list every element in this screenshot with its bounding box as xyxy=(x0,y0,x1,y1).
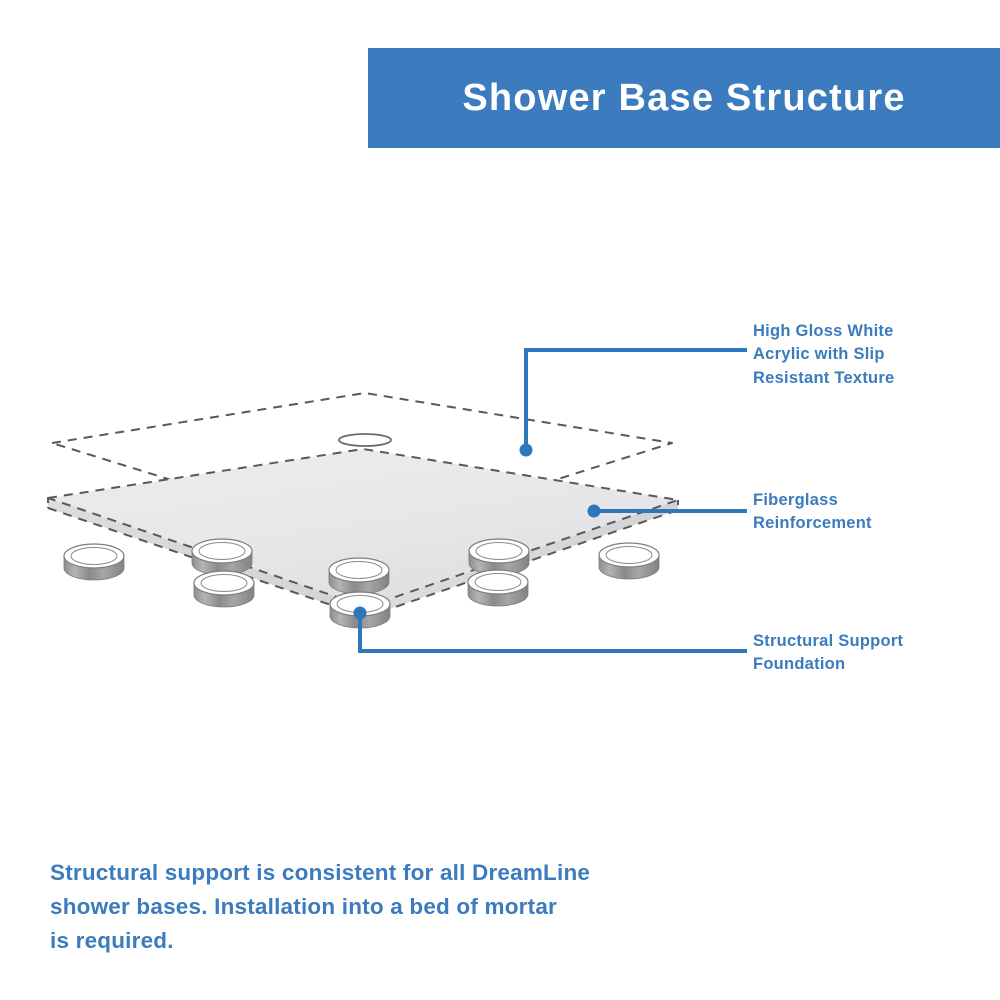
callout-support-line-2: Foundation xyxy=(753,653,903,676)
callout-fiberglass-line-2: Reinforcement xyxy=(753,512,872,535)
footer-caption-line-3: is required. xyxy=(50,924,690,958)
drain-opening xyxy=(339,434,391,446)
footer-caption-line-1: Structural support is consistent for all… xyxy=(50,856,690,890)
support-ring xyxy=(599,543,659,579)
support-ring xyxy=(64,544,124,580)
page-canvas: Shower Base Structure High Gloss White A… xyxy=(0,0,1000,1000)
callout-label-acrylic: High Gloss White Acrylic with Slip Resis… xyxy=(753,320,895,390)
callout-acrylic-line-2: Acrylic with Slip xyxy=(753,343,895,366)
support-ring xyxy=(192,539,252,575)
callout-label-support: Structural Support Foundation xyxy=(753,630,903,677)
footer-caption: Structural support is consistent for all… xyxy=(50,856,690,957)
callout-acrylic-line-1: High Gloss White xyxy=(753,320,895,343)
footer-caption-line-2: shower bases. Installation into a bed of… xyxy=(50,890,690,924)
support-ring xyxy=(329,558,389,594)
callout-support-line-1: Structural Support xyxy=(753,630,903,653)
support-ring xyxy=(468,570,528,606)
title-banner: Shower Base Structure xyxy=(368,48,1000,148)
callout-acrylic-line-3: Resistant Texture xyxy=(753,367,895,390)
support-ring xyxy=(194,571,254,607)
callout-label-fiberglass: Fiberglass Reinforcement xyxy=(753,489,872,536)
leader-line-support xyxy=(354,607,746,652)
page-title: Shower Base Structure xyxy=(462,77,905,120)
callout-fiberglass-line-1: Fiberglass xyxy=(753,489,872,512)
leader-line-acrylic xyxy=(520,350,746,457)
